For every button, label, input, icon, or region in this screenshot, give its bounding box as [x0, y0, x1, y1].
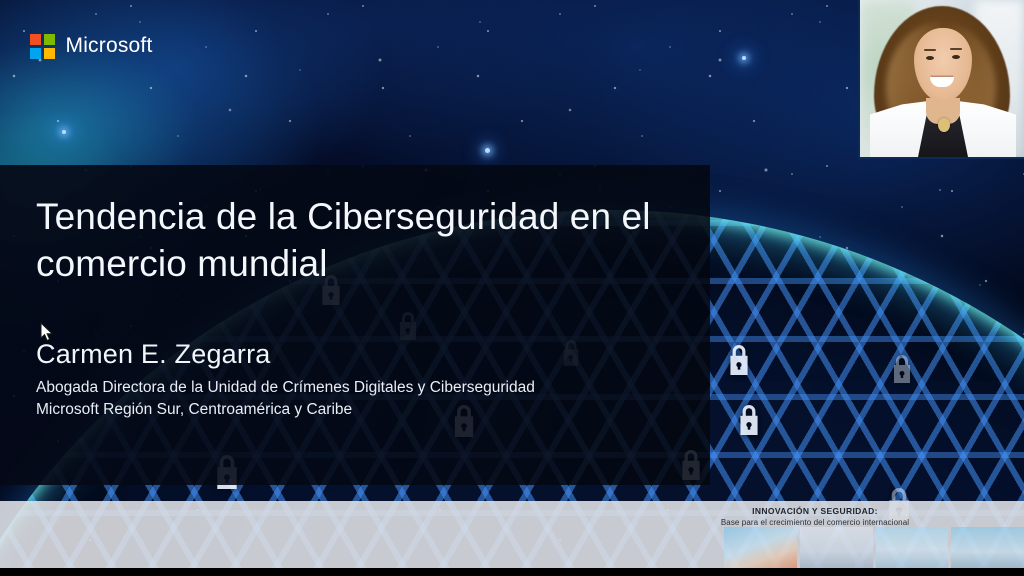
presentation-slide: Microsoft Tendencia de la Ciberseguridad… — [0, 0, 1024, 576]
banner-photo-strip — [724, 527, 1024, 568]
microsoft-squares-icon — [30, 34, 55, 59]
banner-tagline-bold: INNOVACIÓN Y SEGURIDAD: — [620, 506, 1010, 516]
padlock-icon — [726, 345, 752, 380]
presenter-eye-right — [952, 55, 960, 59]
speaker-role-line-2: Microsoft Región Sur, Centroamérica y Ca… — [36, 399, 535, 421]
banner-photo-map — [800, 527, 873, 568]
title-overlay-panel: Tendencia de la Ciberseguridad en el com… — [0, 165, 710, 485]
banner-photo-cargo — [876, 527, 949, 568]
presenter-webcam[interactable] — [858, 0, 1024, 159]
presenter-necklace-pendant — [938, 118, 950, 132]
bottom-black-bar — [0, 568, 1024, 576]
mouse-cursor — [40, 322, 54, 342]
speaker-name: Carmen E. Zegarra — [36, 339, 270, 370]
microsoft-logo: Microsoft — [30, 34, 152, 59]
speaker-role-line-1: Abogada Directora de la Unidad de Crímen… — [36, 377, 535, 399]
bright-star-glow — [742, 56, 746, 60]
microsoft-wordmark: Microsoft — [66, 34, 153, 58]
presenter-eye-left — [926, 56, 934, 60]
banner-photo-port — [951, 527, 1024, 568]
sponsor-banner: INNOVACIÓN Y SEGURIDAD: Base para el cre… — [0, 501, 1024, 568]
banner-tagline-sub: Base para el crecimiento del comercio in… — [620, 518, 1010, 527]
padlock-icon — [890, 355, 914, 388]
page-title: Tendencia de la Ciberseguridad en el com… — [36, 193, 676, 287]
banner-tagline: INNOVACIÓN Y SEGURIDAD: Base para el cre… — [620, 506, 1010, 527]
bright-star-glow — [62, 130, 66, 134]
banner-photo-airplane — [724, 527, 797, 568]
speaker-role: Abogada Directora de la Unidad de Crímen… — [36, 377, 535, 421]
padlock-icon — [736, 405, 762, 440]
